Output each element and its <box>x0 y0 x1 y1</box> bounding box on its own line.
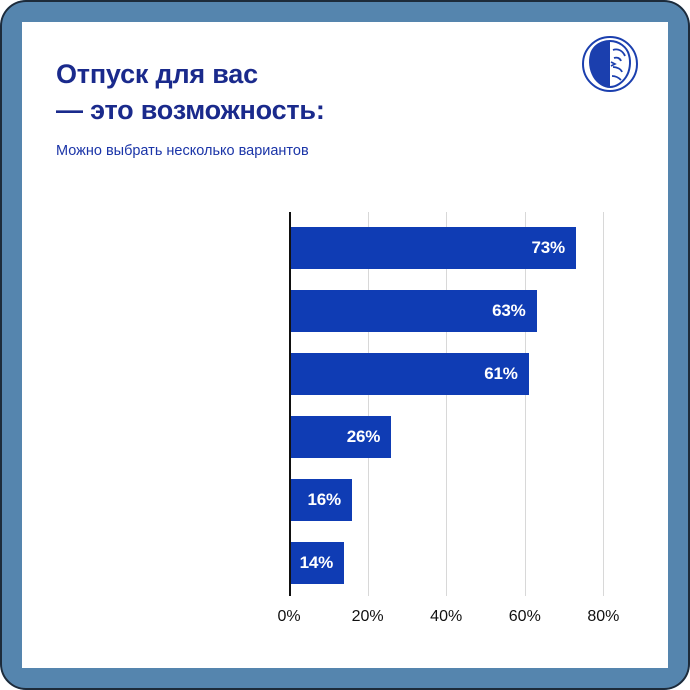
page-title-line1: Отпуск для вас <box>56 56 636 92</box>
bar-value-label: 16% <box>307 490 351 510</box>
bar-value-label: 63% <box>492 301 536 321</box>
x-tick-label: 40% <box>430 608 462 626</box>
x-axis: 0%20%40%60%80% <box>289 596 625 636</box>
bar-row: 63% <box>289 290 537 332</box>
gridline-80 <box>603 212 604 596</box>
poster-frame: Отпуск для вас — это возможность: Можно … <box>0 0 690 690</box>
gridline-40 <box>446 212 447 596</box>
bar: 61% <box>289 353 529 395</box>
x-tick-label: 80% <box>587 608 619 626</box>
bar-row: 26% <box>289 416 391 458</box>
subtitle: Можно выбрать несколько вариантов <box>56 141 636 161</box>
bar-value-label: 61% <box>484 364 528 384</box>
gridline-20 <box>368 212 369 596</box>
bar: 73% <box>289 227 576 269</box>
page-title-line2: — это возможность: <box>56 92 636 128</box>
bar: 26% <box>289 416 391 458</box>
bar-row: 16% <box>289 479 352 521</box>
gridline-60 <box>525 212 526 596</box>
bar: 16% <box>289 479 352 521</box>
bar: 14% <box>289 542 344 584</box>
bar: 63% <box>289 290 537 332</box>
lion-head-logo <box>580 34 640 94</box>
plot-area: 73%Отдохнуть от работыи восстановить сил… <box>289 212 625 596</box>
x-tick-label: 20% <box>352 608 384 626</box>
x-tick-label: 60% <box>509 608 541 626</box>
y-axis-line <box>289 212 291 596</box>
x-tick-label: 0% <box>277 608 300 626</box>
header: Отпуск для вас — это возможность: Можно … <box>56 56 636 161</box>
bar-chart: 73%Отдохнуть от работыи восстановить сил… <box>22 190 668 650</box>
bar-row: 61% <box>289 353 529 395</box>
bar-value-label: 14% <box>300 553 344 573</box>
poster-card: Отпуск для вас — это возможность: Можно … <box>22 22 668 668</box>
bar-value-label: 26% <box>347 427 391 447</box>
bar-row: 14% <box>289 542 344 584</box>
bar-value-label: 73% <box>531 238 575 258</box>
bar-row: 73% <box>289 227 576 269</box>
